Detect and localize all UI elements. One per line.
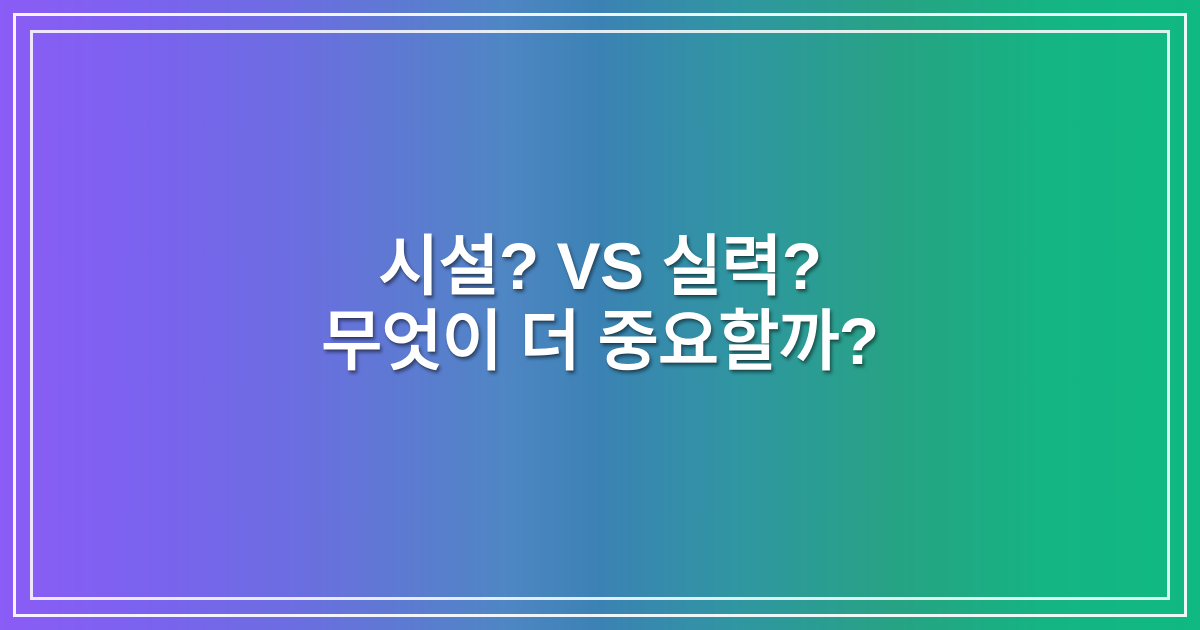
headline-line-2: 무엇이 더 중요할까? <box>321 304 878 379</box>
headline-block: 시설? VS 실력? 무엇이 더 중요할까? <box>0 0 1200 630</box>
social-card: 시설? VS 실력? 무엇이 더 중요할까? <box>0 0 1200 630</box>
headline-line-1: 시설? VS 실력? <box>378 229 821 304</box>
